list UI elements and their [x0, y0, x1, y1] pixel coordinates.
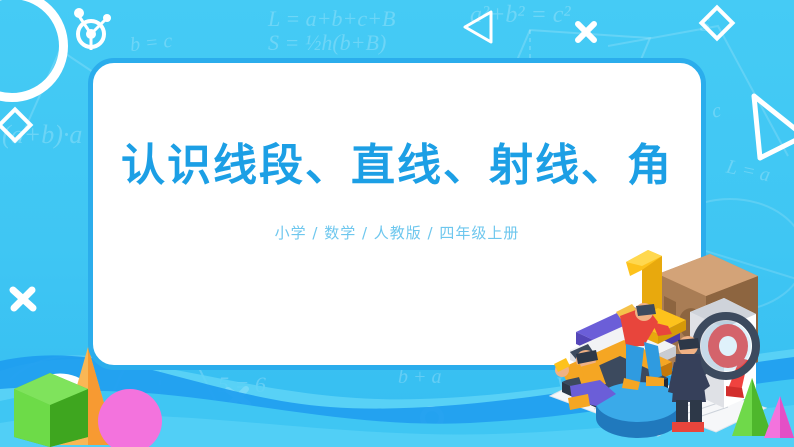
- formula-watermark: L = a+b+c+B: [268, 6, 395, 32]
- formula-watermark: c: [709, 99, 723, 123]
- presentation-slide: L = a+b+c+B S = ½h(b+B) (a+b)·a a²+b² = …: [0, 0, 794, 447]
- formula-watermark: S = ½h(b+B): [268, 30, 386, 56]
- triangle-outline-icon: [460, 8, 496, 46]
- triangle-outline-icon: [742, 88, 794, 170]
- diamond-outline-icon: [0, 107, 33, 144]
- students-study-illustration: [540, 236, 794, 447]
- cross-icon: [6, 282, 40, 316]
- formula-watermark: a²+b² = c²: [470, 2, 571, 29]
- page-title: 认识线段、直线、射线、角: [93, 141, 701, 192]
- formula-watermark: L = a: [724, 156, 772, 188]
- pink-sphere-icon: [98, 389, 162, 447]
- cross-icon: [572, 18, 600, 46]
- formula-watermark: b = c: [129, 30, 174, 57]
- atom-icon: [66, 6, 116, 54]
- diamond-outline-icon: [699, 5, 736, 42]
- circle-ring-icon: [0, 0, 68, 102]
- title-block: 认识线段、直线、射线、角 小学 / 数学 / 人教版 / 四年级上册: [93, 141, 701, 243]
- pink-cone-icon: [764, 396, 794, 438]
